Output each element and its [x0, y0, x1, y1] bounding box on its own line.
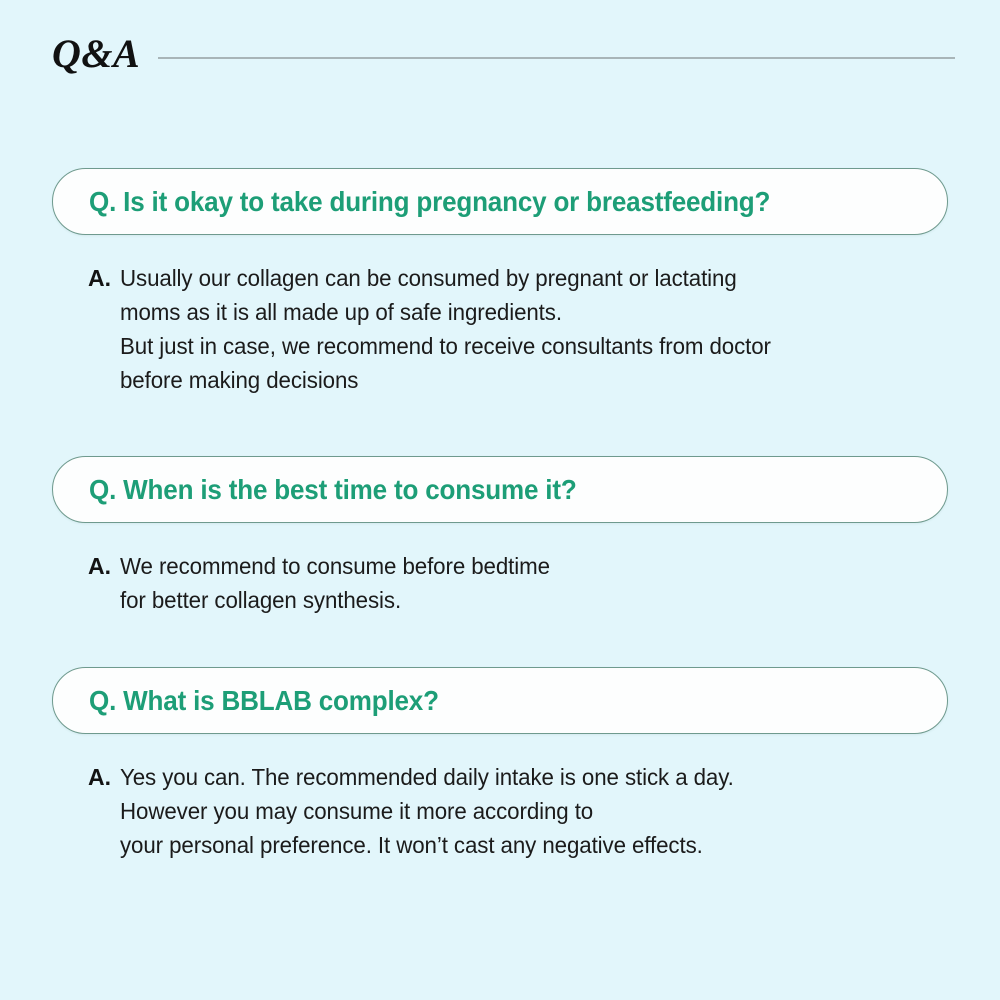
qa-item: Q. When is the best time to consume it? …	[52, 456, 948, 617]
answer-text: We recommend to consume before bedtime f…	[120, 549, 948, 617]
answer-line: However you may consume it more accordin…	[120, 794, 923, 828]
page-header: Q&A	[52, 28, 955, 80]
question-text: Q. Is it okay to take during pregnancy o…	[89, 188, 770, 216]
answer-line: moms as it is all made up of safe ingred…	[120, 295, 923, 329]
answer-block-2: A. Yes you can. The recommended daily in…	[52, 734, 948, 862]
answer-marker: A.	[88, 549, 120, 583]
answer-line: your personal preference. It won’t cast …	[120, 828, 923, 862]
section-spacer	[52, 397, 948, 456]
answer-line: Yes you can. The recommended daily intak…	[120, 760, 923, 794]
question-pill-1[interactable]: Q. When is the best time to consume it?	[52, 456, 948, 523]
answer-text: Usually our collagen can be consumed by …	[120, 261, 948, 397]
question-pill-2[interactable]: Q. What is BBLAB complex?	[52, 667, 948, 734]
answer-line: for better collagen synthesis.	[120, 583, 923, 617]
answer-text: Yes you can. The recommended daily intak…	[120, 760, 948, 862]
answer-block-1: A. We recommend to consume before bedtim…	[52, 523, 948, 617]
page-title: Q&A	[52, 34, 158, 74]
question-text: Q. What is BBLAB complex?	[89, 687, 439, 715]
section-spacer	[52, 617, 948, 667]
answer-line: before making decisions	[120, 363, 923, 397]
question-pill-0[interactable]: Q. Is it okay to take during pregnancy o…	[52, 168, 948, 235]
answer-marker: A.	[88, 760, 120, 794]
answer-line: But just in case, we recommend to receiv…	[120, 329, 923, 363]
answer-block-0: A. Usually our collagen can be consumed …	[52, 235, 948, 397]
answer-line: Usually our collagen can be consumed by …	[120, 261, 923, 295]
qa-list: Q. Is it okay to take during pregnancy o…	[52, 168, 948, 862]
answer-line: We recommend to consume before bedtime	[120, 549, 923, 583]
header-divider	[158, 57, 955, 59]
qa-item: Q. What is BBLAB complex? A. Yes you can…	[52, 667, 948, 862]
answer-marker: A.	[88, 261, 120, 295]
qa-item: Q. Is it okay to take during pregnancy o…	[52, 168, 948, 397]
question-text: Q. When is the best time to consume it?	[89, 476, 577, 504]
